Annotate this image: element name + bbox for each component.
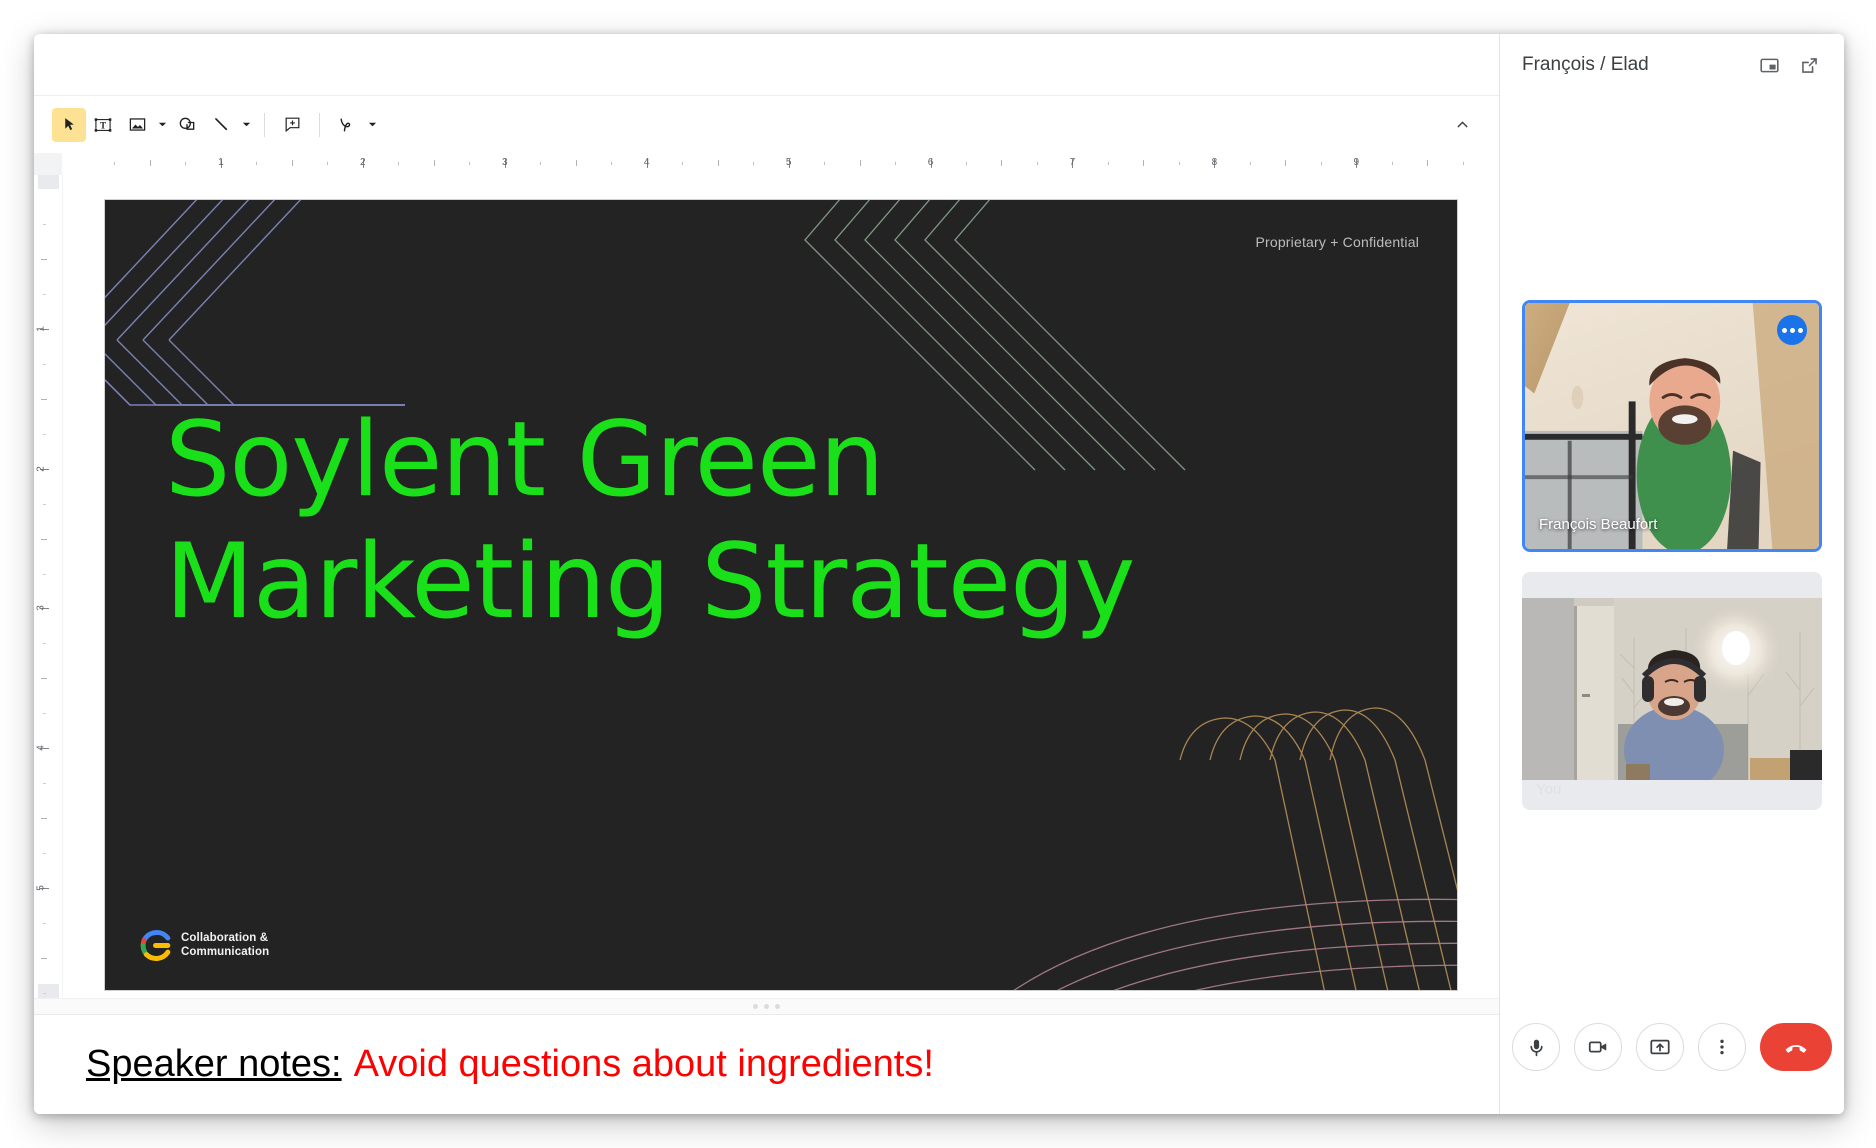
ruler-minor-tick: [1463, 162, 1464, 165]
vruler-minor-tick: [43, 853, 46, 854]
ruler-number: 3: [502, 157, 508, 168]
slide-canvas[interactable]: Proprietary + Confidential Soylent Green…: [105, 200, 1457, 990]
ruler-minor-tick: [1392, 162, 1393, 165]
ruler-half-tick: [860, 160, 861, 166]
select-cursor-tool[interactable]: [52, 108, 86, 142]
camera-icon: [1587, 1036, 1609, 1058]
meet-call-title: François / Elad: [1522, 54, 1744, 76]
camera-button[interactable]: [1574, 1023, 1622, 1071]
curve-dropdown-caret[interactable]: [364, 108, 380, 142]
more-options-button[interactable]: [1698, 1023, 1746, 1071]
collaboration-c-logo-icon: [139, 929, 172, 962]
vertical-ruler[interactable]: 12345: [34, 175, 63, 998]
vruler-half-tick: [41, 958, 47, 959]
ruler-minor-tick: [824, 162, 825, 165]
open-in-new-window-icon[interactable]: [1794, 50, 1824, 80]
slides-toolbar: T: [34, 96, 1499, 153]
vruler-minor-tick: [43, 574, 46, 575]
resize-dot: [753, 1004, 758, 1009]
ruler-number: 8: [1212, 157, 1218, 168]
ruler-minor-tick: [966, 162, 967, 165]
ruler-margin-grip[interactable]: [38, 175, 59, 189]
meet-controls-bar: [1500, 994, 1844, 1114]
speaker-notes-pane[interactable]: Speaker notes: Avoid questions about ing…: [34, 1014, 1499, 1114]
svg-text:T: T: [100, 120, 106, 130]
ruler-minor-tick: [114, 162, 115, 165]
collapse-menus-button[interactable]: [1447, 110, 1477, 140]
participant-tile-you[interactable]: You: [1522, 572, 1822, 810]
canvas-row: 12345: [34, 175, 1499, 998]
ruler-minor-tick: [469, 162, 470, 165]
toolbar-separator-2: [319, 113, 320, 137]
ruler-minor-tick: [398, 162, 399, 165]
ruler-corner: [34, 153, 63, 175]
picture-in-picture-icon[interactable]: [1754, 50, 1784, 80]
vruler-minor-tick: [43, 993, 46, 994]
more-dot: [1798, 328, 1803, 333]
ruler-minor-tick: [1250, 162, 1251, 165]
slide-canvas-area[interactable]: Proprietary + Confidential Soylent Green…: [63, 175, 1499, 998]
ruler-number: 2: [360, 157, 366, 168]
meet-header: François / Elad: [1500, 34, 1844, 96]
line-dropdown-caret[interactable]: [238, 108, 254, 142]
microphone-button[interactable]: [1512, 1023, 1560, 1071]
ruler-minor-tick: [256, 162, 257, 165]
vruler-minor-tick: [43, 783, 46, 784]
brand-logo-line-2: Communication: [181, 946, 269, 960]
vruler-minor-tick: [43, 713, 46, 714]
participant-more-options-icon[interactable]: [1777, 315, 1807, 345]
vruler-half-tick: [41, 539, 47, 540]
curve-pen-tool[interactable]: [330, 108, 364, 142]
ruler-margin-grip[interactable]: [38, 984, 59, 998]
slide-title-line-2: Marketing Strategy: [165, 522, 1265, 644]
ruler-minor-tick: [1037, 162, 1038, 165]
ruler-minor-tick: [682, 162, 683, 165]
ruler-half-tick: [434, 160, 435, 166]
line-tool[interactable]: [204, 108, 238, 142]
toolbar-group-primary: T: [52, 108, 380, 142]
toolbar-separator-1: [264, 113, 265, 137]
ruler-number: 9: [1353, 157, 1359, 168]
present-screen-icon: [1649, 1036, 1671, 1058]
notes-resize-handle[interactable]: [34, 998, 1499, 1014]
ruler-number: 7: [1070, 157, 1076, 168]
speaker-notes-label: Speaker notes:: [86, 1043, 342, 1086]
slides-editor-pane: T: [34, 34, 1500, 1114]
vruler-number: 4: [35, 746, 46, 752]
ruler-half-tick: [1427, 160, 1428, 166]
google-meet-panel: François / Elad: [1500, 34, 1844, 1114]
participant-name-francois: François Beaufort: [1539, 516, 1657, 533]
vruler-half-tick: [41, 818, 47, 819]
brand-logo-text: Collaboration & Communication: [181, 932, 269, 959]
confidential-label: Proprietary + Confidential: [1255, 234, 1419, 250]
ruler-half-tick: [1285, 160, 1286, 166]
vruler-half-tick: [41, 678, 47, 679]
ruler-minor-tick: [611, 162, 612, 165]
ruler-minor-tick: [540, 162, 541, 165]
ruler-half-tick: [718, 160, 719, 166]
brand-logo: Collaboration & Communication: [139, 929, 269, 962]
ruler-half-tick: [1143, 160, 1144, 166]
more-vertical-icon: [1712, 1037, 1732, 1057]
vruler-number: 3: [35, 606, 46, 612]
vruler-minor-tick: [43, 224, 46, 225]
ruler-half-tick: [292, 160, 293, 166]
vruler-minor-tick: [43, 923, 46, 924]
vruler-minor-tick: [43, 364, 46, 365]
editor-menu-area: [34, 34, 1499, 96]
ruler-minor-tick: [1321, 162, 1322, 165]
ruler-number: 6: [928, 157, 934, 168]
ruler-minor-tick: [895, 162, 896, 165]
shape-tool[interactable]: [170, 108, 204, 142]
text-box-tool[interactable]: T: [86, 108, 120, 142]
ruler-half-tick: [576, 160, 577, 166]
hang-up-button[interactable]: [1760, 1023, 1832, 1071]
ruler-minor-tick: [1179, 162, 1180, 165]
slide-title[interactable]: Soylent Green Marketing Strategy: [165, 400, 1265, 643]
google-slides-with-meet-window: T: [34, 34, 1844, 1114]
ruler-minor-tick: [327, 162, 328, 165]
vruler-number: 5: [35, 885, 46, 891]
ruler-minor-tick: [1108, 162, 1109, 165]
participant-video-francois: [1525, 303, 1819, 549]
vruler-minor-tick: [43, 294, 46, 295]
vruler-half-tick: [41, 399, 47, 400]
ruler-row: 123456789: [34, 153, 1499, 175]
ruler-minor-tick: [185, 162, 186, 165]
comment-tool[interactable]: [275, 108, 309, 142]
microphone-icon: [1526, 1037, 1547, 1058]
ruler-half-tick: [1001, 160, 1002, 166]
vruler-number: 2: [35, 466, 46, 472]
vruler-minor-tick: [43, 504, 46, 505]
ruler-number: 4: [644, 157, 650, 168]
participant-tile-francois[interactable]: François Beaufort: [1522, 300, 1822, 552]
horizontal-ruler[interactable]: 123456789: [63, 153, 1499, 175]
resize-dot: [764, 1004, 769, 1009]
ruler-minor-tick: [753, 162, 754, 165]
slide-title-line-1: Soylent Green: [165, 400, 1265, 522]
vruler-half-tick: [41, 259, 47, 260]
speaker-notes-text[interactable]: Avoid questions about ingredients!: [354, 1043, 934, 1086]
hang-up-icon: [1782, 1033, 1810, 1061]
vruler-minor-tick: [43, 643, 46, 644]
brand-logo-line-1: Collaboration &: [181, 932, 269, 946]
ruler-number: 5: [786, 157, 792, 168]
vruler-minor-tick: [43, 434, 46, 435]
vruler-number: 1: [35, 326, 46, 332]
insert-image-dropdown-caret[interactable]: [154, 108, 170, 142]
more-dot: [1790, 328, 1795, 333]
more-dot: [1782, 328, 1787, 333]
resize-dot: [775, 1004, 780, 1009]
participant-name-you: You: [1536, 781, 1561, 798]
participant-video-you: [1522, 598, 1822, 780]
meet-participant-tiles: François Beaufort: [1500, 96, 1844, 994]
ruler-half-tick: [150, 160, 151, 166]
ruler-number: 1: [218, 157, 224, 168]
insert-image-tool[interactable]: [120, 108, 154, 142]
present-screen-button[interactable]: [1636, 1023, 1684, 1071]
